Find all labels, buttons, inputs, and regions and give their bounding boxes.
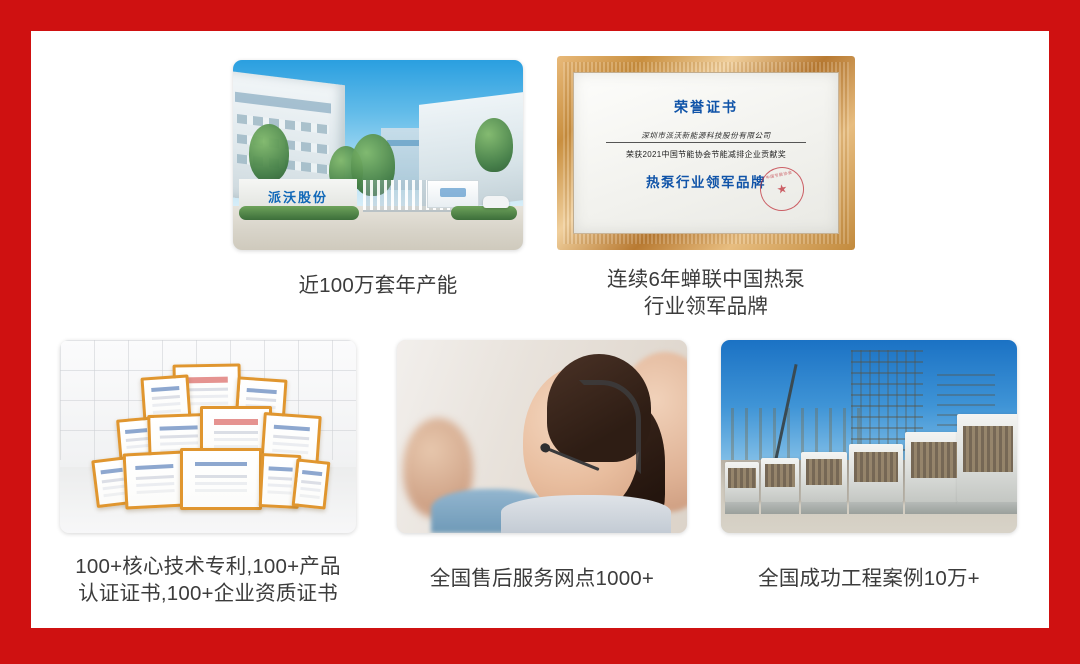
card-patents[interactable]: 100+核心技术专利,100+产品 认证证书,100+企业资质证书 (60, 340, 356, 607)
card-cases[interactable]: 全国成功工程案例10万+ (721, 340, 1017, 592)
bottom-row: 100+核心技术专利,100+产品 认证证书,100+企业资质证书 (31, 331, 1049, 621)
card-service[interactable]: 全国售后服务网点1000+ (397, 340, 687, 592)
company-signboard (427, 180, 479, 208)
heat-pump-unit (849, 444, 903, 502)
card-factory[interactable]: 派沃股份 近100万套年产能 (233, 60, 523, 299)
slide-root: 派沃股份 近100万套年产能 荣誉证书 深圳市派 (0, 0, 1080, 664)
tree (249, 124, 289, 182)
call-center-agents-photo[interactable] (397, 340, 687, 533)
factory-exterior-photo[interactable]: 派沃股份 (233, 60, 523, 250)
card-certificate[interactable]: 荣誉证书 深圳市派沃新能源科技股份有限公司 荣获2021中国节能协会节能减排企业… (557, 56, 855, 320)
caption-service: 全国售后服务网点1000+ (397, 565, 687, 592)
factory-sign-text: 派沃股份 (243, 189, 353, 206)
slide-white-canvas: 派沃股份 近100万套年产能 荣誉证书 深圳市派 (31, 31, 1049, 628)
certificate-company: 深圳市派沃新能源科技股份有限公司 (606, 130, 807, 143)
heat-pump-unit (761, 458, 799, 502)
heat-pump-unit (725, 462, 759, 502)
award-plaque (180, 448, 262, 510)
caption-certificate: 连续6年蝉联中国热泵 行业领军品牌 (557, 266, 855, 320)
window-band (237, 114, 329, 134)
heat-pump-unit (801, 452, 847, 502)
certificate-paper: 荣誉证书 深圳市派沃新能源科技股份有限公司 荣获2021中国节能协会节能减排企业… (573, 72, 839, 234)
caption-cases: 全国成功工程案例10万+ (721, 565, 1017, 592)
tree (475, 118, 513, 172)
factory-scene: 派沃股份 (233, 60, 523, 250)
headset-icon (579, 380, 641, 474)
certificate-award-line: 荣获2021中国节能协会节能减排企业贡献奖 (574, 149, 838, 160)
heat-pump-installation-photo[interactable] (721, 340, 1017, 533)
certificates-wall-photo[interactable] (60, 340, 356, 533)
hedge (451, 206, 517, 220)
hedge (239, 206, 359, 220)
agent-collar (501, 495, 671, 533)
certificate-gold-frame: 荣誉证书 深圳市派沃新能源科技股份有限公司 荣获2021中国节能协会节能减排企业… (557, 56, 855, 250)
certificate-title: 荣誉证书 (574, 97, 838, 117)
caption-factory: 近100万套年产能 (233, 272, 523, 299)
honor-certificate-photo[interactable]: 荣誉证书 深圳市派沃新能源科技股份有限公司 荣获2021中国节能协会节能减排企业… (557, 56, 855, 250)
award-plaque (292, 458, 331, 509)
award-plaque (123, 450, 188, 509)
parked-car (483, 196, 509, 208)
top-row: 派沃股份 近100万套年产能 荣誉证书 深圳市派 (31, 31, 1049, 319)
caption-patents: 100+核心技术专利,100+产品 认证证书,100+企业资质证书 (60, 553, 356, 607)
heat-pump-unit (957, 414, 1017, 502)
